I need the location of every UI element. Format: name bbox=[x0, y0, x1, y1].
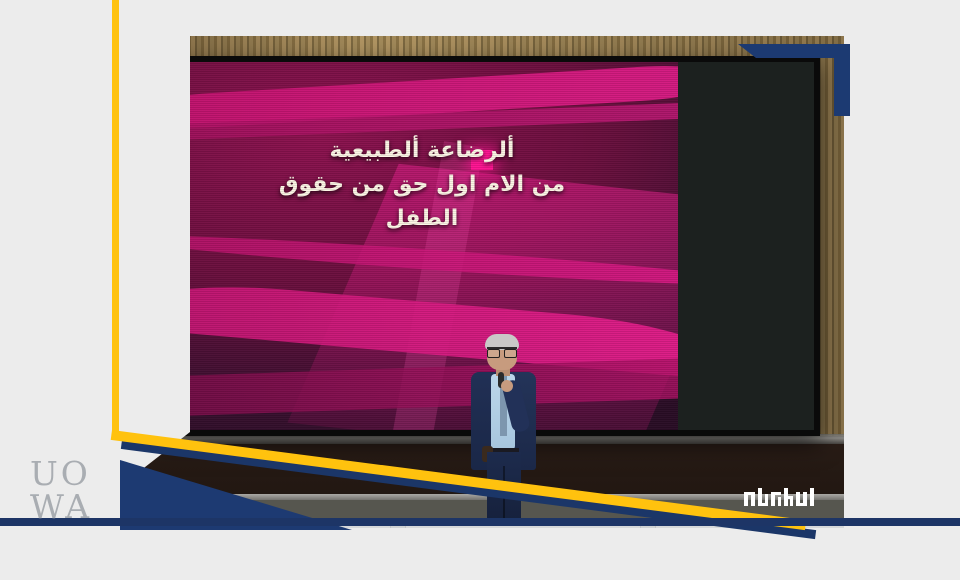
slide-title-line-2: من الام اول حق من حقوق bbox=[192, 168, 652, 202]
slide-title-line-3: الطفل bbox=[192, 202, 652, 236]
slide-highlight-square bbox=[471, 150, 493, 170]
slide-title-line-1: ألرضاعة ألطبيعية bbox=[192, 134, 652, 168]
screenshot-root: ألرضاعة ألطبيعية من الام اول حق من حقوق … bbox=[0, 0, 960, 580]
slide-title-text: ألرضاعة ألطبيعية من الام اول حق من حقوق … bbox=[166, 134, 678, 236]
uowa-logo-line-1: UO bbox=[30, 458, 110, 489]
card-right-margin bbox=[844, 0, 960, 580]
kufic-arabic-wordmark bbox=[744, 487, 816, 511]
uowa-logo: UO WA bbox=[30, 458, 110, 530]
uowa-logo-line-2: WA bbox=[30, 491, 110, 522]
presenter-hand bbox=[501, 380, 513, 392]
presentation-slide: ألرضاعة ألطبيعية من الام اول حق من حقوق … bbox=[166, 62, 678, 430]
yellow-vertical-accent-bar bbox=[112, 0, 119, 436]
presenter-eyeglasses bbox=[487, 347, 517, 356]
screen-dark-panel bbox=[666, 62, 814, 430]
navy-horizontal-divider-bar bbox=[0, 518, 960, 526]
navy-corner-accent-edge bbox=[834, 44, 850, 116]
